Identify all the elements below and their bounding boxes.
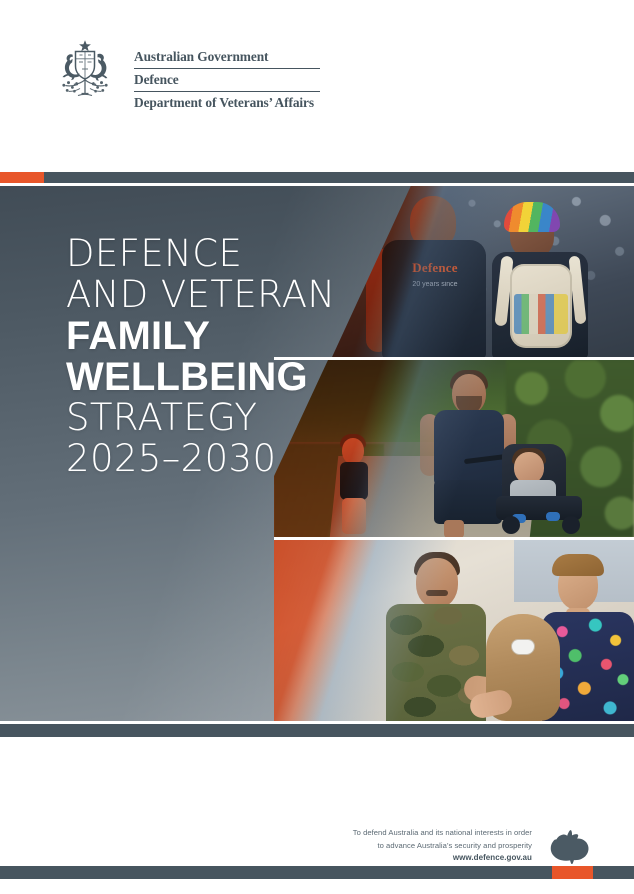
- title-line-strategy: STRATEGY: [66, 398, 336, 438]
- wordmark-australian-government: Australian Government: [134, 49, 320, 68]
- wordmark-defence: Defence: [134, 72, 320, 91]
- tagline-line-2: to advance Australia’s security and pros…: [353, 840, 532, 852]
- title-line-years: 2025–2030: [66, 439, 336, 479]
- wordmark-department-of-veterans-affairs: Department of Veterans’ Affairs: [134, 95, 320, 111]
- top-accent-bar: [0, 172, 634, 183]
- defence-website-url[interactable]: www.defence.gov.au: [353, 852, 532, 865]
- title-line-family: FAMILY: [66, 316, 336, 356]
- soldier-family-reunion-photo: [274, 540, 634, 721]
- page-title: DEFENCE AND VETERAN FAMILY WELLBEING STR…: [66, 234, 336, 479]
- hero-banner: Defence 20 years since Defence: [0, 186, 634, 721]
- top-accent-orange-block: [0, 172, 44, 183]
- masthead: Australian Government Defence Department…: [48, 38, 320, 111]
- tshirt-defence-text: Defence: [392, 260, 478, 276]
- wordmark-rule-1: [134, 68, 320, 69]
- bottom-accent-orange-block: [552, 866, 593, 879]
- title-line-and-veteran: AND VETERAN: [66, 275, 336, 315]
- bottom-accent-bar: [0, 866, 634, 879]
- cover-page: Australian Government Defence Department…: [0, 0, 634, 894]
- wordmark-rule-2: [134, 91, 320, 92]
- australia-map-icon: [548, 826, 592, 866]
- commonwealth-coat-of-arms-icon: [48, 38, 122, 100]
- hero-bottom-bar: [0, 724, 634, 737]
- title-line-wellbeing: WELLBEING: [66, 357, 336, 397]
- tshirt-anniversary-text: 20 years since: [390, 280, 480, 291]
- defence-tagline: To defend Australia and its national int…: [353, 827, 532, 865]
- title-line-defence: DEFENCE: [66, 234, 336, 274]
- tagline-line-1: To defend Australia and its national int…: [353, 827, 532, 839]
- photo-divider: [274, 537, 634, 540]
- footer: To defend Australia and its national int…: [0, 820, 634, 894]
- government-wordmark: Australian Government Defence Department…: [134, 38, 320, 111]
